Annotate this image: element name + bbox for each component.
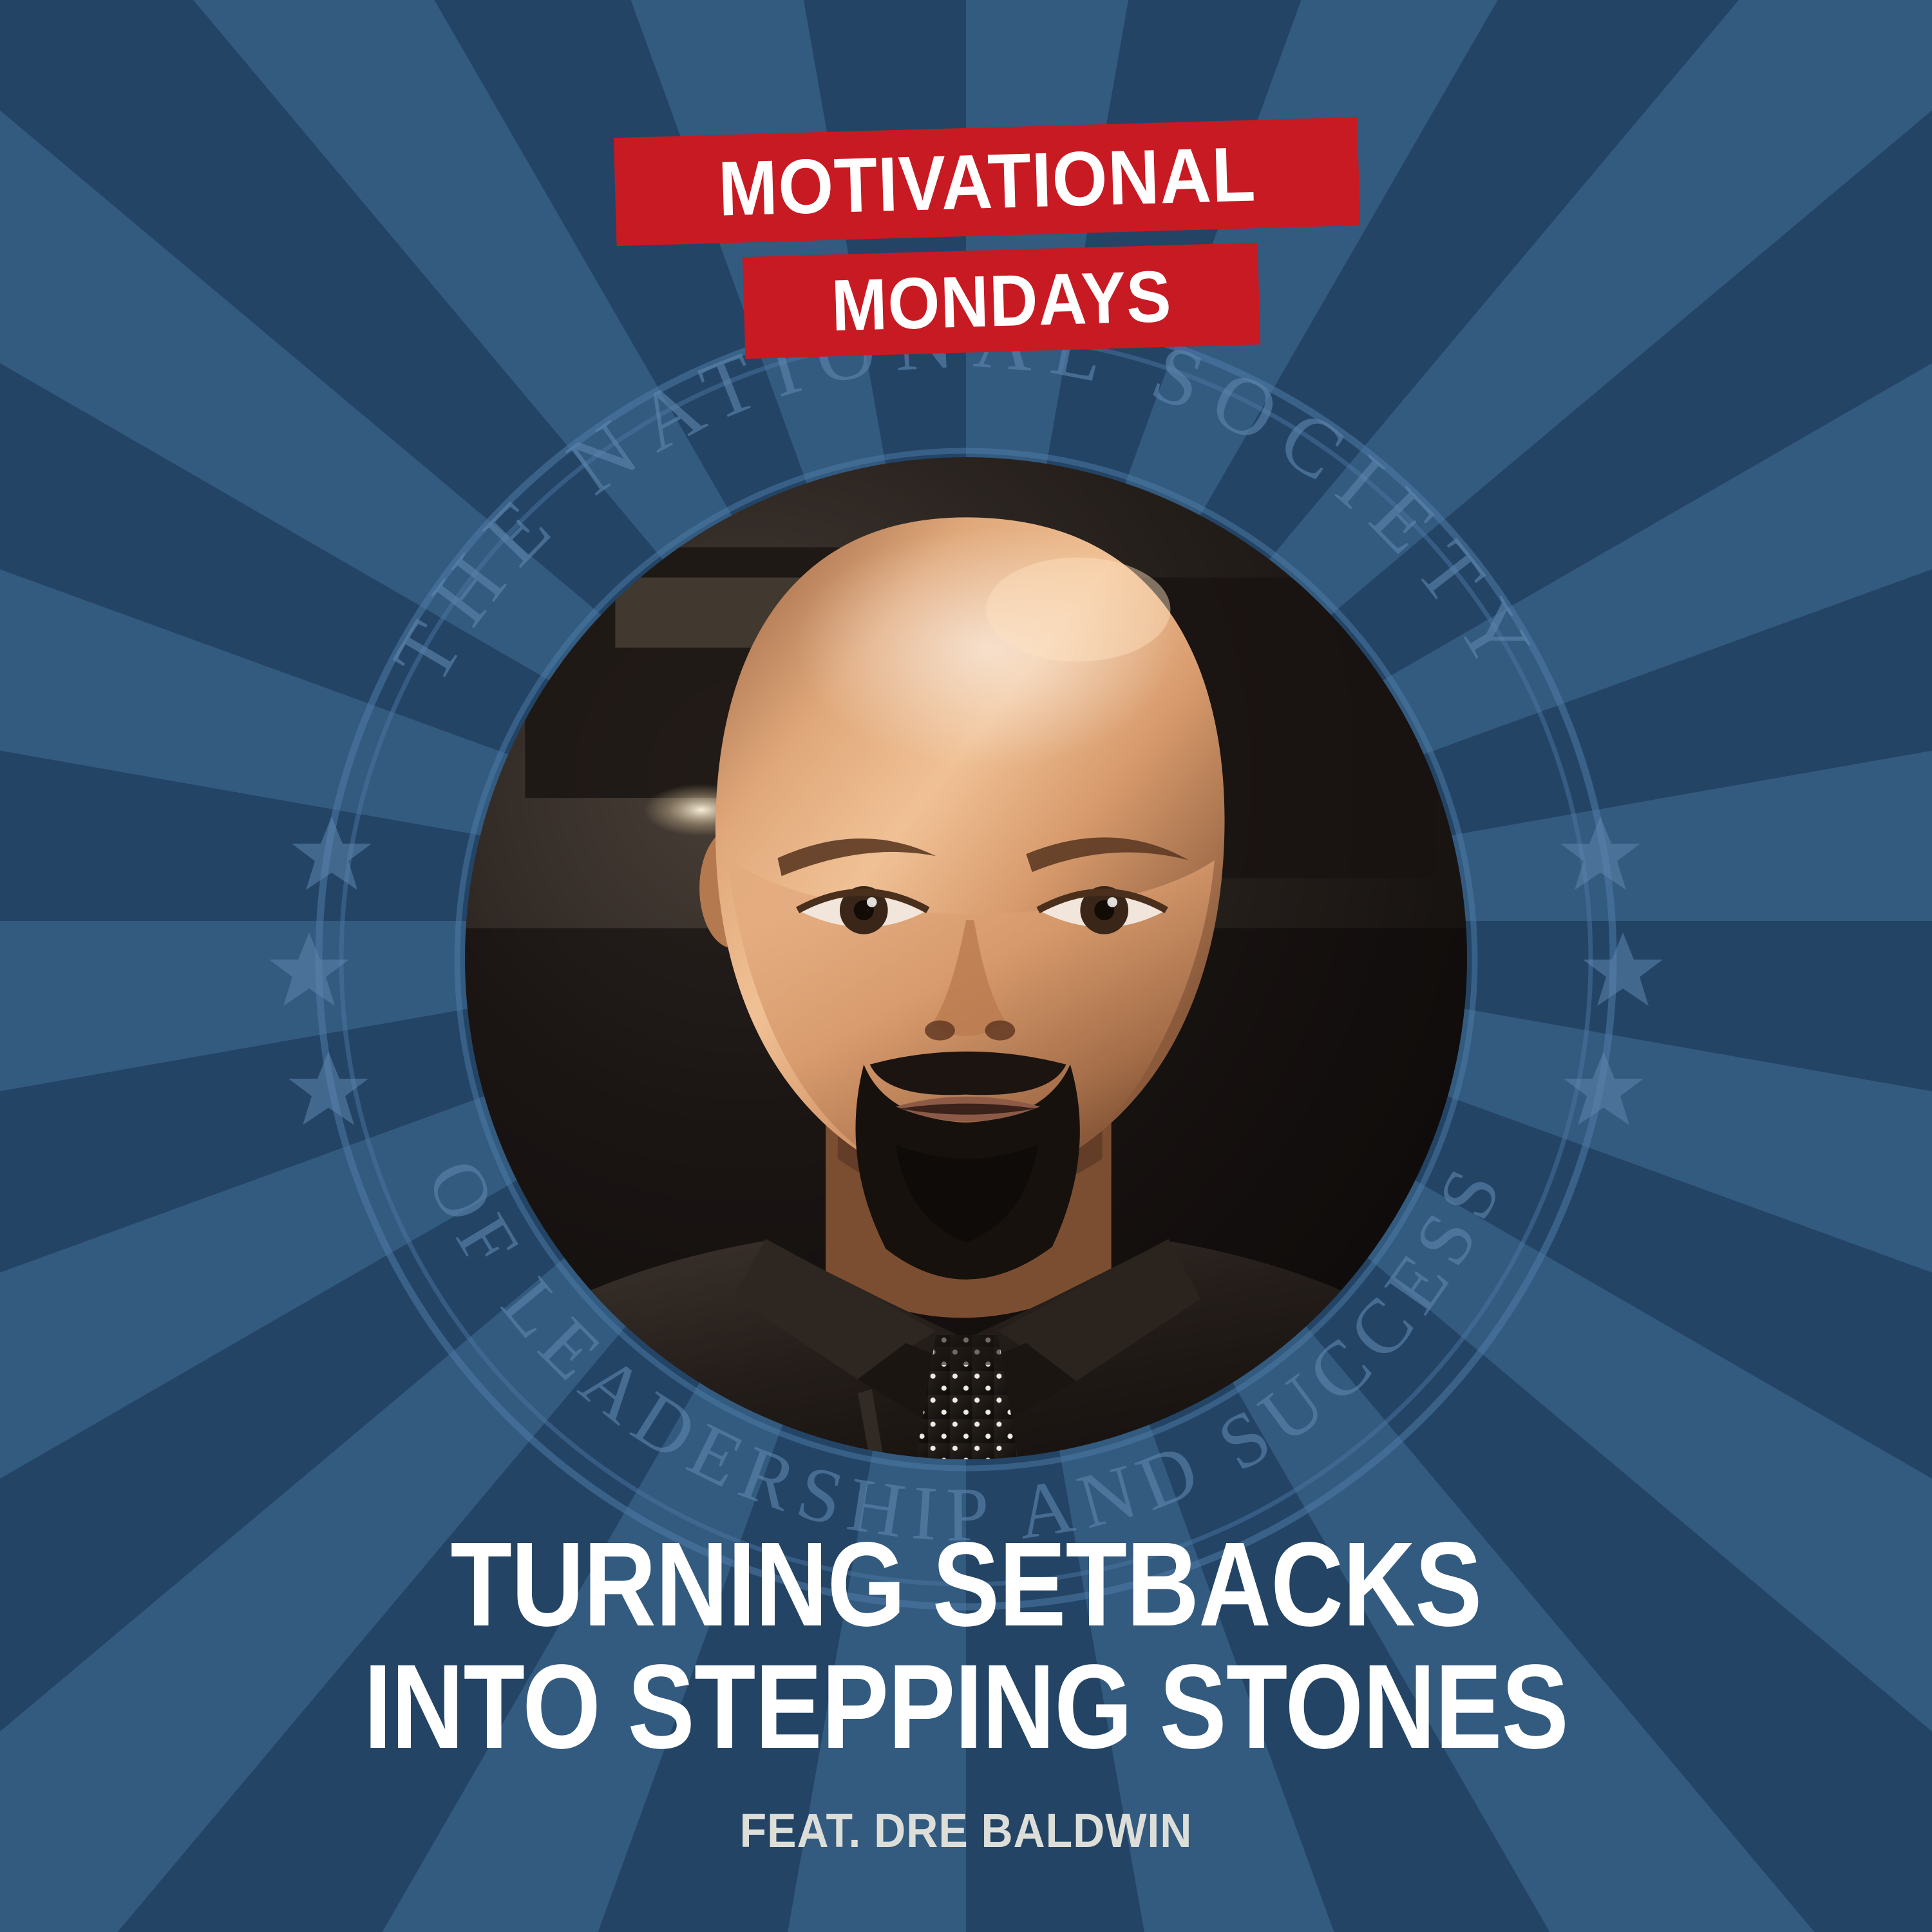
badge-mondays: MONDAYS [743,243,1260,359]
featured-guest-credit: FEAT. DRE BALDWIN [77,1803,1855,1858]
motivational-mondays-poster: THE NATIONAL SOCIETY OF LEADERSHIP AND S… [0,0,1932,1932]
title-line-2: INTO STEPPING STONES [155,1646,1777,1768]
badge-mondays-label: MONDAYS [830,260,1172,342]
badge-motivational: MOTIVATIONAL [614,117,1360,246]
speaker-portrait [465,457,1467,1459]
episode-title: TURNING SETBACKS INTO STEPPING STONES [0,1524,1932,1768]
title-line-1: TURNING SETBACKS [155,1524,1777,1646]
badge-motivational-label: MOTIVATIONAL [717,135,1257,227]
